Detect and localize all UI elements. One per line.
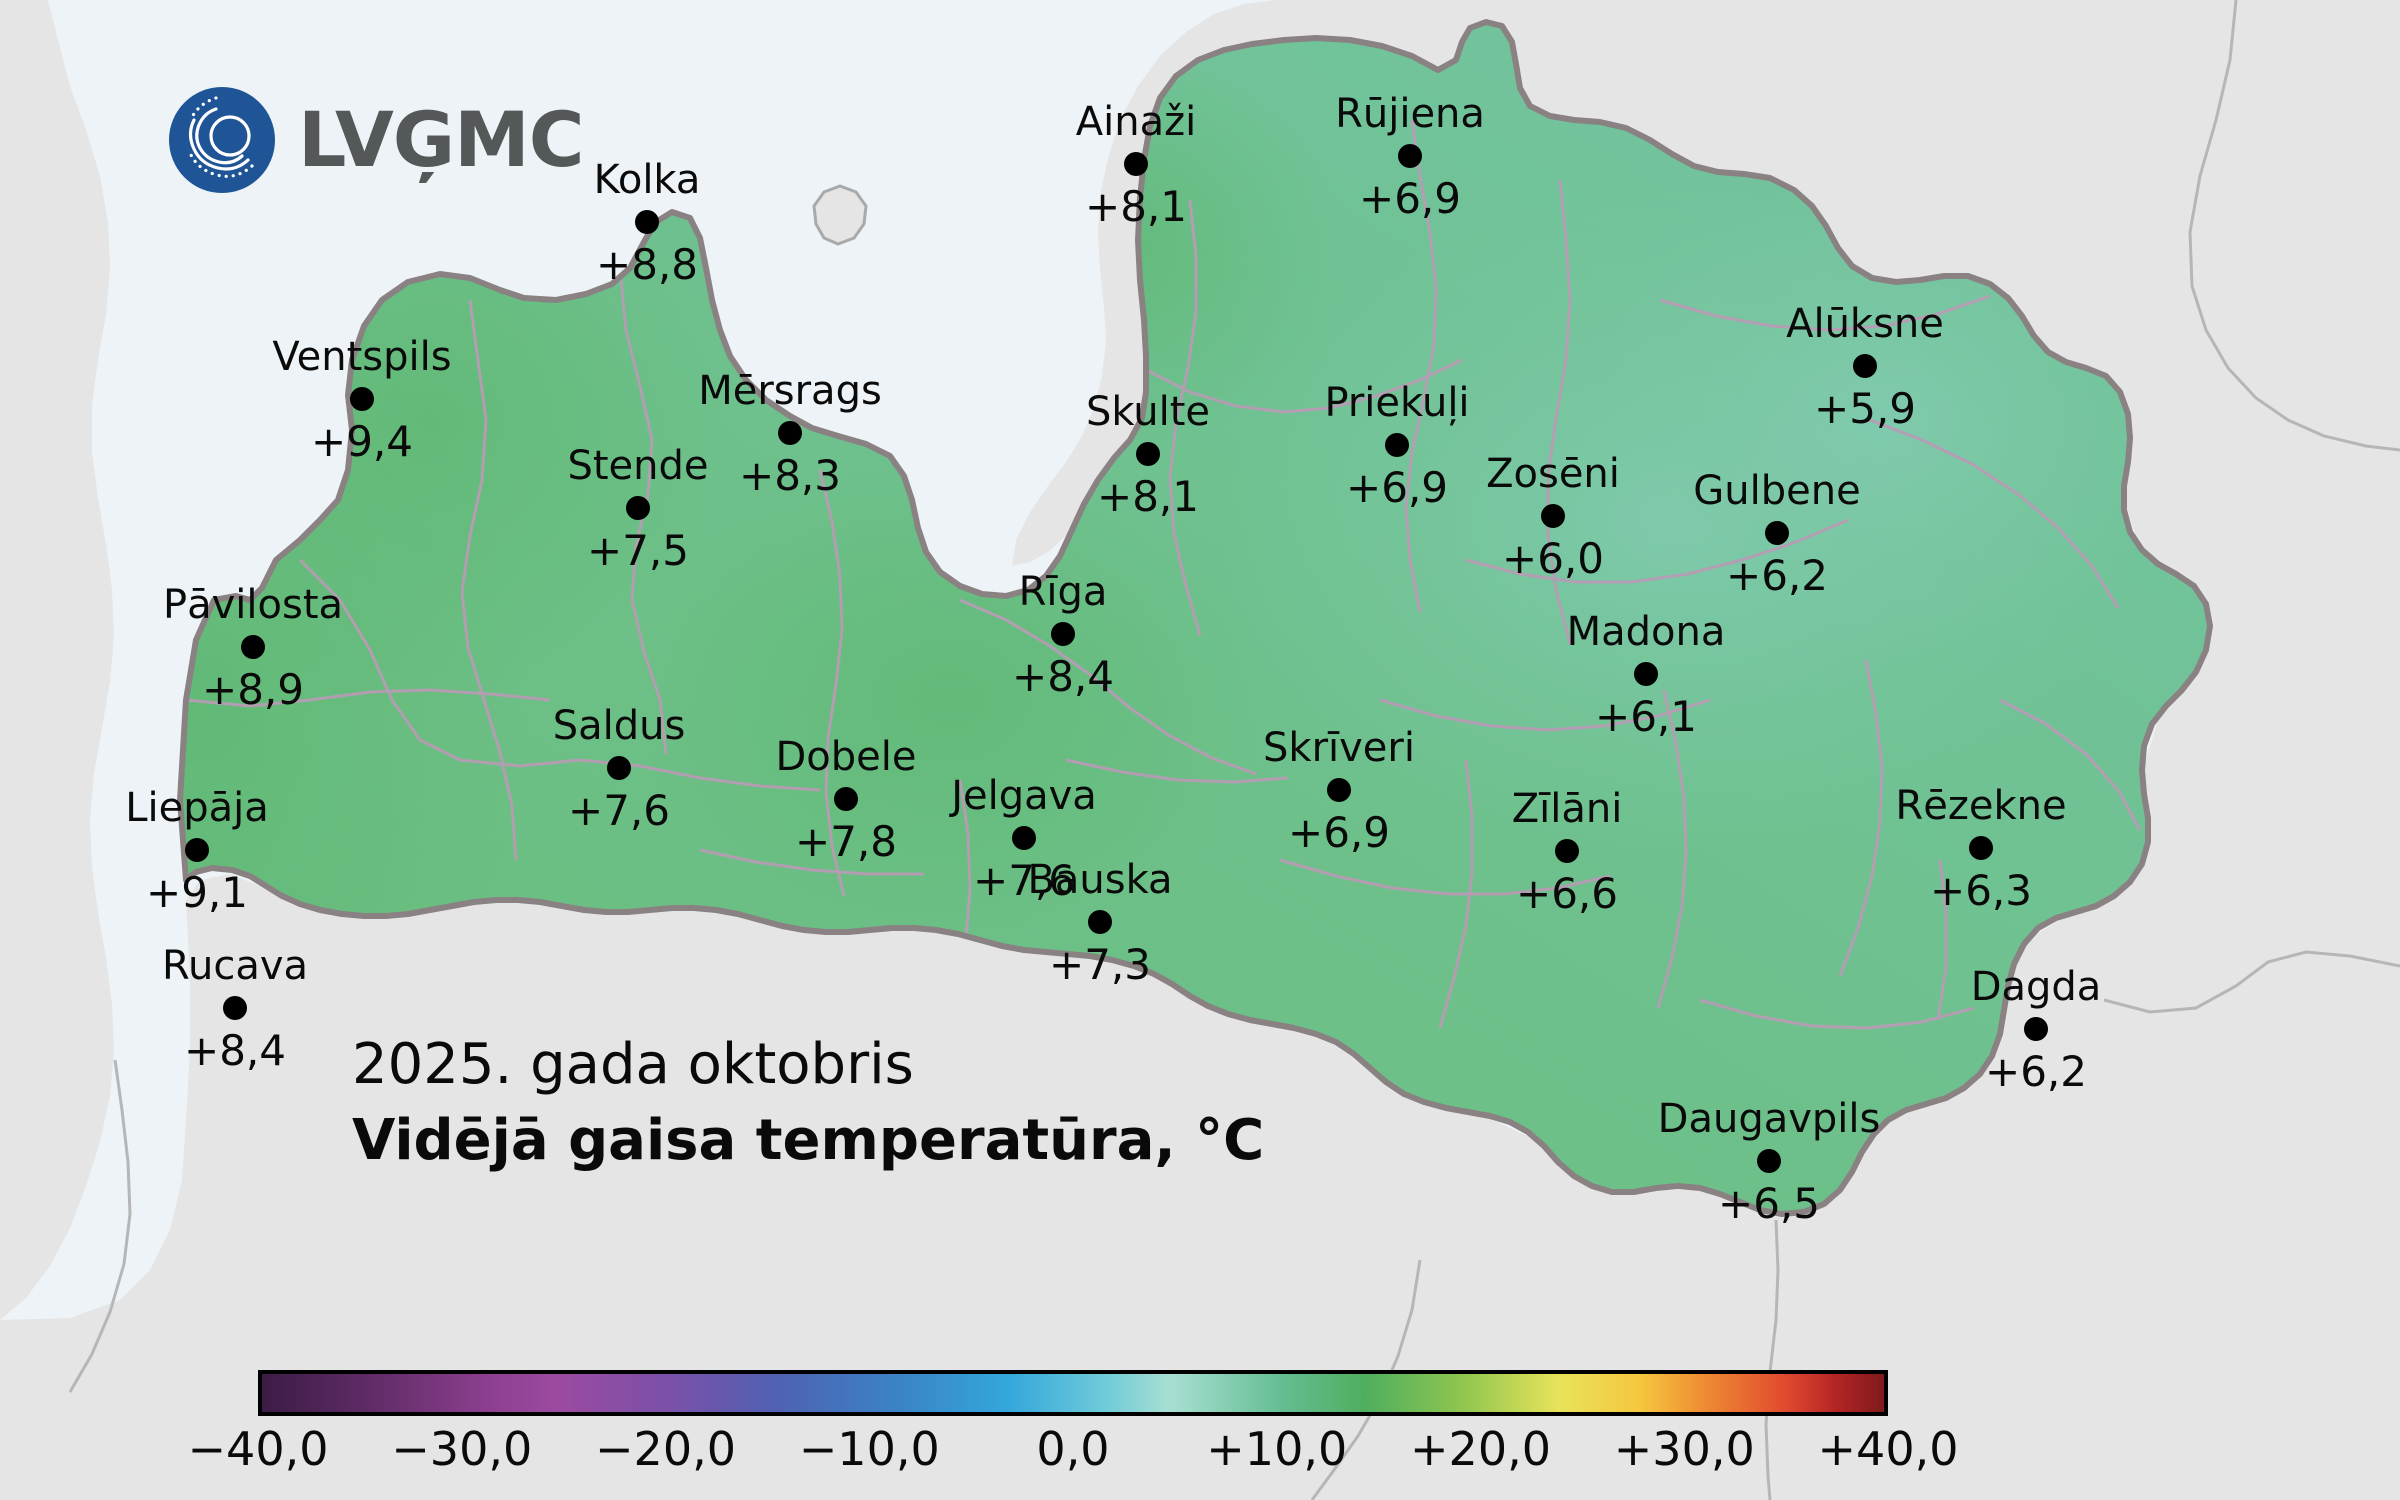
colorbar-tick: +40,0	[1818, 1422, 1959, 1476]
map-base-layer	[0, 0, 2400, 1500]
colorbar-tick: 0,0	[1036, 1422, 1109, 1476]
lvgmc-wordmark: LVĢMC	[298, 102, 584, 178]
colorbar-tick: −20,0	[595, 1422, 736, 1476]
map-variable-title: Vidējā gaisa temperatūra, °C	[352, 1108, 1264, 1174]
colorbar-tick: −30,0	[391, 1422, 532, 1476]
weather-map-figure: LVĢMC Ainaži+8,1Rūjiena+6,9Kolka+8,8Alūk…	[0, 0, 2400, 1500]
colorbar-tick: −10,0	[799, 1422, 940, 1476]
lvgmc-circular-waves-logo-icon	[168, 86, 276, 194]
map-period-title: 2025. gada oktobris	[352, 1032, 1264, 1098]
map-title-block: 2025. gada oktobris Vidējā gaisa tempera…	[352, 1032, 1264, 1174]
colorbar-tick: +30,0	[1614, 1422, 1755, 1476]
colorbar-tick-labels: −40,0−30,0−20,0−10,00,0+10,0+20,0+30,0+4…	[258, 1422, 1888, 1484]
colorbar-tick: +20,0	[1410, 1422, 1551, 1476]
lvgmc-logo: LVĢMC	[168, 86, 584, 194]
colorbar-tick: −40,0	[188, 1422, 329, 1476]
temperature-colorbar-legend: −40,0−30,0−20,0−10,00,0+10,0+20,0+30,0+4…	[258, 1370, 1888, 1484]
colorbar-gradient	[258, 1370, 1888, 1416]
colorbar-tick: +10,0	[1206, 1422, 1347, 1476]
